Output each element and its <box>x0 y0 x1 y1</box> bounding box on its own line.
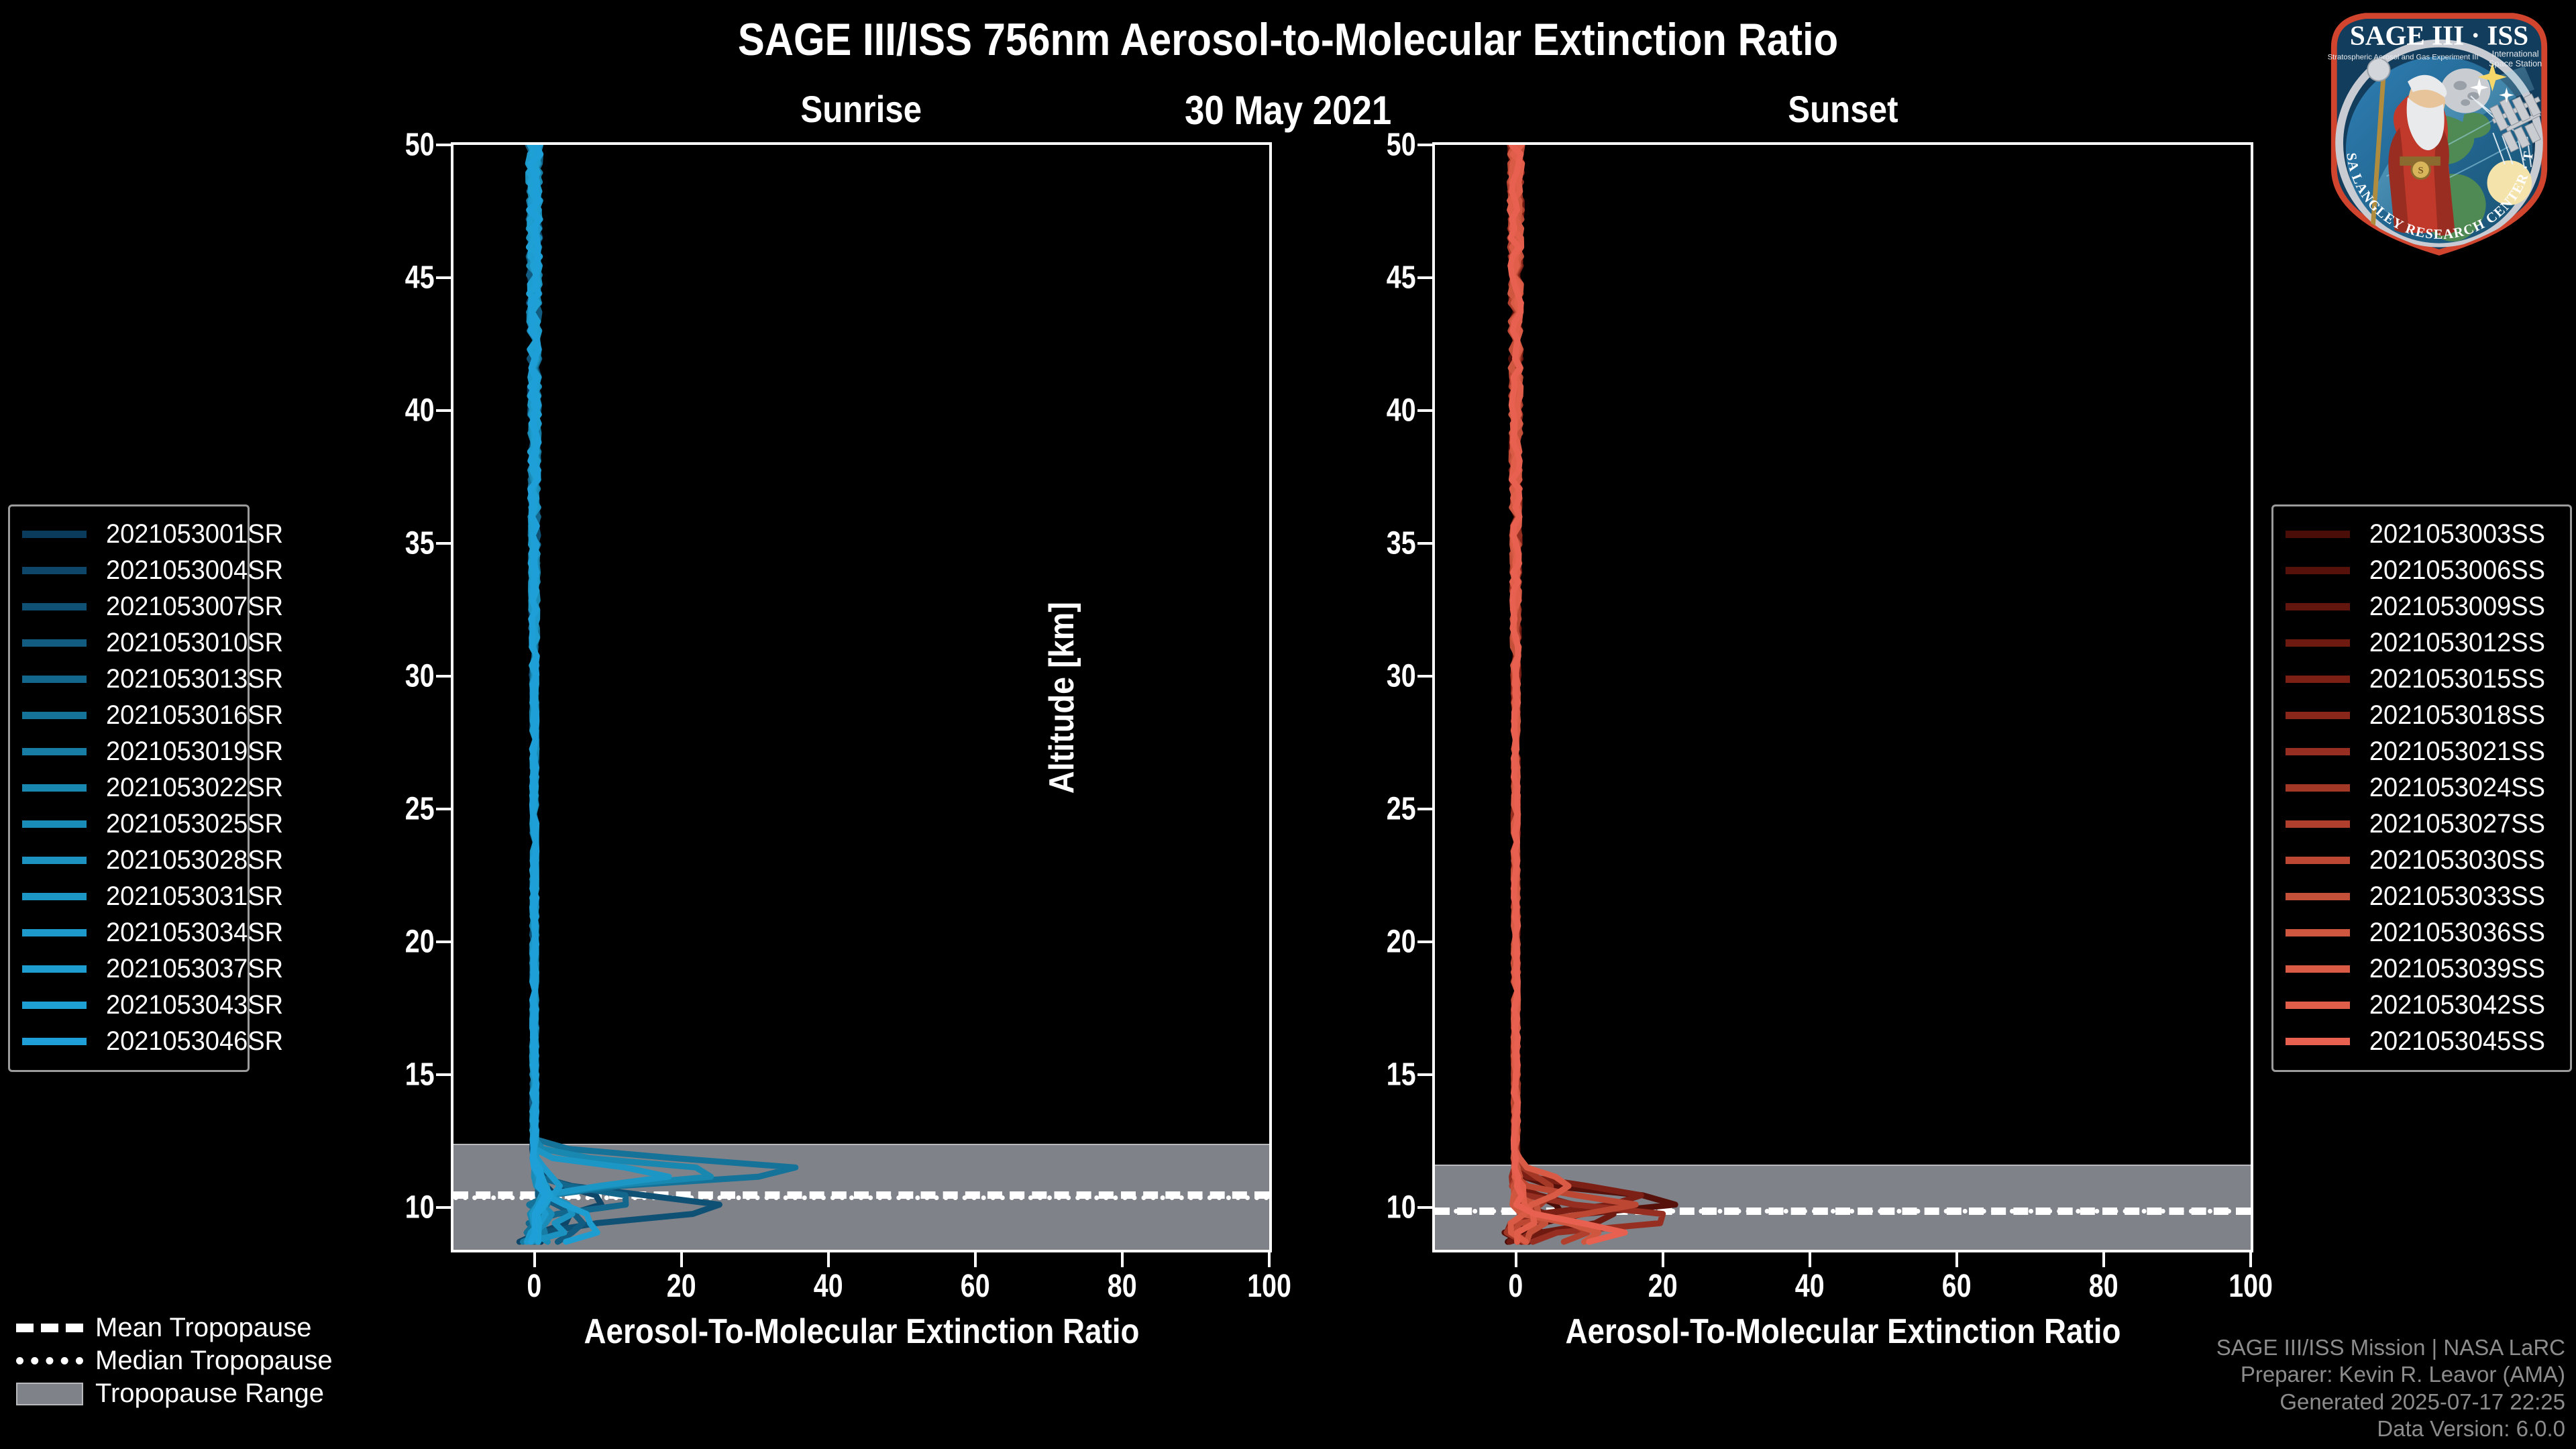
sunrise-y-tick-mark <box>436 276 451 279</box>
sunrise-legend-item[interactable]: 2021053031SR <box>22 878 235 914</box>
sunrise-x-tick-label: 20 <box>614 1268 749 1305</box>
sunrise-y-tick-mark <box>436 1206 451 1209</box>
legend-color-swatch <box>22 820 87 828</box>
sunset-y-tick-mark <box>1417 675 1432 678</box>
sunrise-y-tick-mark <box>436 542 451 545</box>
sunrise-y-tick-label: 50 <box>330 127 437 164</box>
legend-color-swatch <box>2286 531 2350 538</box>
sunset-legend-item[interactable]: 2021053042SS <box>2286 987 2558 1023</box>
sunset-y-tick-mark <box>1417 941 1432 943</box>
profile-line <box>529 145 626 1242</box>
sunrise-legend-item[interactable]: 2021053001SR <box>22 516 235 552</box>
sunset-y-tick-label: 30 <box>1311 657 1419 694</box>
legend-item-label: 2021053007SR <box>101 592 288 622</box>
sunset-x-tick-mark <box>2102 1252 2105 1267</box>
sunrise-plot-area <box>451 142 1272 1252</box>
sunrise-panel-title: Sunrise <box>451 87 1272 131</box>
legend-item-label: 2021053010SR <box>101 628 288 658</box>
credits-block: SAGE III/ISS Mission | NASA LaRCPreparer… <box>2216 1334 2565 1442</box>
sunrise-x-tick-mark <box>827 1252 830 1267</box>
legend-item-label: 2021053021SS <box>2365 737 2550 767</box>
legend-color-swatch <box>2286 676 2350 683</box>
sunset-legend: 2021053003SS2021053006SS2021053009SS2021… <box>2271 504 2572 1072</box>
sunset-legend-item[interactable]: 2021053021SS <box>2286 733 2558 769</box>
legend-color-swatch <box>2286 1038 2350 1045</box>
sunset-y-tick-mark <box>1417 409 1432 412</box>
sunset-x-tick-label: 0 <box>1449 1268 1583 1305</box>
sunrise-legend-item[interactable]: 2021053013SR <box>22 661 235 697</box>
legend-color-swatch <box>22 965 87 973</box>
median-tropopause-dot-swatch <box>12 1357 87 1364</box>
sunrise-y-tick-label: 45 <box>330 259 437 296</box>
sunrise-legend: 2021053001SR2021053004SR2021053007SR2021… <box>8 504 250 1072</box>
sunset-y-tick-mark <box>1417 144 1432 146</box>
sunrise-x-tick-label: 40 <box>761 1268 896 1305</box>
legend-color-swatch <box>22 1002 87 1009</box>
sunrise-x-axis-title-text: Aerosol-To-Molecular Extinction Ratio <box>584 1311 1139 1352</box>
sunset-legend-item[interactable]: 2021053015SS <box>2286 661 2558 697</box>
sunset-legend-item[interactable]: 2021053036SS <box>2286 914 2558 951</box>
logo-subtitle-right-1: International <box>2492 48 2539 58</box>
mean-tropopause-dash-label: Mean Tropopause <box>95 1313 311 1343</box>
legend-item-label: 2021053003SS <box>2365 519 2550 549</box>
legend-item-label: 2021053033SS <box>2365 881 2550 912</box>
legend-item-label: 2021053030SS <box>2365 845 2550 875</box>
sunrise-x-tick-mark <box>680 1252 683 1267</box>
legend-color-swatch <box>22 712 87 719</box>
sunrise-legend-item[interactable]: 2021053034SR <box>22 914 235 951</box>
legend-color-swatch <box>22 857 87 864</box>
legend-color-swatch <box>22 676 87 683</box>
logo-title: SAGE III · ISS <box>2350 20 2528 51</box>
sunrise-y-tick-label: 20 <box>330 923 437 960</box>
sunrise-legend-item[interactable]: 2021053037SR <box>22 951 235 987</box>
legend-item-label: 2021053004SR <box>101 555 288 586</box>
sunset-legend-item[interactable]: 2021053039SS <box>2286 951 2558 987</box>
legend-item-label: 2021053025SR <box>101 809 288 839</box>
page-title-text: SAGE III/ISS 756nm Aerosol-to-Molecular … <box>738 13 1838 66</box>
legend-item-label: 2021053024SS <box>2365 773 2550 803</box>
sunrise-legend-item[interactable]: 2021053004SR <box>22 552 235 588</box>
legend-item-label: 2021053019SR <box>101 737 288 767</box>
legend-item-label: 2021053012SS <box>2365 628 2550 658</box>
legend-item-label: 2021053013SR <box>101 664 288 694</box>
sunrise-x-tick-label: 80 <box>1055 1268 1189 1305</box>
legend-item-label: 2021053028SR <box>101 845 288 875</box>
profile-line <box>1510 145 1663 1242</box>
sunset-legend-item[interactable]: 2021053027SS <box>2286 806 2558 842</box>
sunset-x-tick-label: 100 <box>2184 1268 2318 1305</box>
legend-item-label: 2021053022SR <box>101 773 288 803</box>
sunrise-x-tick-mark <box>1121 1252 1124 1267</box>
legend-item-label: 2021053027SS <box>2365 809 2550 839</box>
legend-item-label: 2021053031SR <box>101 881 288 912</box>
sunset-legend-item[interactable]: 2021053030SS <box>2286 842 2558 878</box>
sunset-x-axis-title: Aerosol-To-Molecular Extinction Ratio <box>1432 1311 2253 1352</box>
sunrise-x-tick-label: 60 <box>908 1268 1042 1305</box>
profile-line <box>1507 145 1641 1242</box>
legend-color-swatch <box>22 567 87 574</box>
sunrise-x-tick-mark <box>1268 1252 1271 1267</box>
logo-subtitle-right-2: Space Station <box>2489 58 2542 68</box>
legend-color-swatch <box>2286 567 2350 574</box>
sunset-y-axis-title-text: Altitude [km] <box>1042 602 1082 794</box>
sunset-y-tick-label: 50 <box>1311 127 1419 164</box>
sunset-legend-item[interactable]: 2021053045SS <box>2286 1023 2558 1059</box>
legend-item-label: 2021053042SS <box>2365 990 2550 1020</box>
sunset-y-tick-label: 15 <box>1311 1056 1419 1093</box>
sunrise-x-tick-label: 0 <box>468 1268 602 1305</box>
legend-color-swatch <box>22 531 87 538</box>
sunset-x-axis-title-text: Aerosol-To-Molecular Extinction Ratio <box>1565 1311 2121 1352</box>
sage-iii-iss-mission-patch-logo: S SAGE III · ISS Stratospheric Aerosol a… <box>2308 4 2571 262</box>
legend-color-swatch <box>22 748 87 755</box>
legend-item-label: 2021053001SR <box>101 519 288 549</box>
sunrise-y-tick-mark <box>436 1073 451 1076</box>
sunrise-y-tick-label: 40 <box>330 392 437 429</box>
median-tropopause-dot-legend-row: Median Tropopause <box>12 1344 428 1377</box>
profile-line <box>1505 145 1675 1242</box>
sunrise-legend-item[interactable]: 2021053025SR <box>22 806 235 842</box>
sunset-y-tick-label: 25 <box>1311 790 1419 827</box>
sunset-y-tick-mark <box>1417 542 1432 545</box>
legend-item-label: 2021053015SS <box>2365 664 2550 694</box>
legend-item-label: 2021053009SS <box>2365 592 2550 622</box>
sunset-plot-area <box>1432 142 2253 1252</box>
sunset-x-tick-mark <box>1955 1252 1958 1267</box>
profile-line <box>1511 145 1636 1242</box>
sunset-profile-curves <box>1435 145 2251 1250</box>
mean-tropopause-dash-glyph <box>16 1324 83 1332</box>
profile-line <box>1511 145 1625 1242</box>
tropopause-legend: Mean TropopauseMedian TropopauseTropopau… <box>12 1311 428 1410</box>
sunset-legend-item[interactable]: 2021053018SS <box>2286 697 2558 733</box>
legend-item-label: 2021053039SS <box>2365 954 2550 984</box>
profile-line <box>1509 145 1613 1242</box>
sunrise-x-axis-title: Aerosol-To-Molecular Extinction Ratio <box>451 1311 1272 1352</box>
mission-patch-svg: S SAGE III · ISS Stratospheric Aerosol a… <box>2308 4 2571 262</box>
tropopause-range-box-glyph <box>16 1383 83 1405</box>
sunrise-y-tick-label: 35 <box>330 525 437 561</box>
sunset-panel-title: Sunset <box>1432 87 2253 131</box>
tropopause-range-box-swatch <box>12 1383 87 1405</box>
sunset-y-tick-label: 45 <box>1311 259 1419 296</box>
legend-item-label: 2021053036SS <box>2365 918 2550 948</box>
tropopause-range-box-label: Tropopause Range <box>95 1379 324 1409</box>
mean-tropopause-dash-legend-row: Mean Tropopause <box>12 1311 428 1344</box>
sunrise-legend-item[interactable]: 2021053022SR <box>22 769 235 806</box>
legend-color-swatch <box>2286 1002 2350 1009</box>
legend-color-swatch <box>2286 929 2350 936</box>
sunrise-profile-curves <box>453 145 1269 1250</box>
sunset-x-tick-label: 60 <box>1890 1268 2024 1305</box>
sunrise-y-tick-mark <box>436 409 451 412</box>
legend-item-label: 2021053006SS <box>2365 555 2550 586</box>
sunrise-legend-item[interactable]: 2021053016SR <box>22 697 235 733</box>
sunrise-x-tick-label: 100 <box>1202 1268 1336 1305</box>
legend-color-swatch <box>22 784 87 792</box>
sunrise-legend-item[interactable]: 2021053010SR <box>22 625 235 661</box>
legend-color-swatch <box>2286 965 2350 973</box>
legend-item-label: 2021053034SR <box>101 918 288 948</box>
sunset-legend-item[interactable]: 2021053003SS <box>2286 516 2558 552</box>
sunrise-y-tick-mark <box>436 808 451 810</box>
sunrise-panel-title-text: Sunrise <box>801 87 922 131</box>
sunrise-y-tick-mark <box>436 941 451 943</box>
page-title: SAGE III/ISS 756nm Aerosol-to-Molecular … <box>0 13 2576 66</box>
legend-color-swatch <box>2286 857 2350 864</box>
sunrise-y-tick-mark <box>436 144 451 146</box>
legend-color-swatch <box>2286 603 2350 610</box>
legend-item-label: 2021053045SS <box>2365 1026 2550 1057</box>
legend-color-swatch <box>22 893 87 900</box>
legend-color-swatch <box>2286 748 2350 755</box>
sunset-y-tick-mark <box>1417 1073 1432 1076</box>
legend-color-swatch <box>2286 820 2350 828</box>
credits-line-2: Preparer: Kevin R. Leavor (AMA) <box>2216 1361 2565 1388</box>
sunset-panel-title-text: Sunset <box>1788 87 1898 131</box>
profile-line <box>529 145 669 1242</box>
legend-color-swatch <box>2286 712 2350 719</box>
profile-line <box>527 145 796 1242</box>
profile-line <box>529 145 719 1242</box>
tropopause-range-box-legend-row: Tropopause Range <box>12 1377 428 1410</box>
legend-item-label: 2021053043SR <box>101 990 288 1020</box>
sunset-y-tick-label: 40 <box>1311 392 1419 429</box>
sunset-x-tick-label: 40 <box>1743 1268 1877 1305</box>
sunset-y-tick-label: 10 <box>1311 1189 1419 1226</box>
sunrise-x-tick-mark <box>974 1252 977 1267</box>
sunrise-legend-item[interactable]: 2021053007SR <box>22 588 235 625</box>
credits-line-3: Generated 2025-07-17 22:25 <box>2216 1389 2565 1415</box>
logo-subtitle-left: Stratospheric Aerosol and Gas Experiment… <box>2328 53 2479 61</box>
legend-item-label: 2021053046SR <box>101 1026 288 1057</box>
legend-item-label: 2021053018SS <box>2365 700 2550 731</box>
legend-color-swatch <box>22 929 87 936</box>
sunset-x-tick-label: 80 <box>2037 1268 2171 1305</box>
credits-line-4: Data Version: 6.0.0 <box>2216 1415 2565 1442</box>
legend-item-label: 2021053037SR <box>101 954 288 984</box>
sunset-x-tick-mark <box>1515 1252 1517 1267</box>
sunset-y-tick-mark <box>1417 808 1432 810</box>
svg-text:S: S <box>2418 166 2423 176</box>
sunset-y-tick-label: 35 <box>1311 525 1419 561</box>
sunrise-y-tick-label: 25 <box>330 790 437 827</box>
sunset-y-tick-mark <box>1417 276 1432 279</box>
sunset-legend-item[interactable]: 2021053024SS <box>2286 769 2558 806</box>
sunset-y-axis-title: Altitude [km] <box>1042 510 1082 885</box>
sunset-legend-item[interactable]: 2021053012SS <box>2286 625 2558 661</box>
sunset-x-tick-label: 20 <box>1596 1268 1730 1305</box>
sunrise-y-tick-mark <box>436 675 451 678</box>
median-tropopause-dot-glyph <box>16 1357 83 1364</box>
mean-tropopause-dash-swatch <box>12 1324 87 1332</box>
sunrise-legend-item[interactable]: 2021053046SR <box>22 1023 235 1059</box>
legend-color-swatch <box>2286 784 2350 792</box>
sunrise-legend-item[interactable]: 2021053043SR <box>22 987 235 1023</box>
legend-item-label: 2021053016SR <box>101 700 288 731</box>
median-tropopause-dot-label: Median Tropopause <box>95 1346 333 1376</box>
sunset-y-tick-label: 20 <box>1311 923 1419 960</box>
sunset-legend-item[interactable]: 2021053033SS <box>2286 878 2558 914</box>
profile-line <box>529 145 710 1242</box>
legend-color-swatch <box>22 639 87 647</box>
sunset-legend-item[interactable]: 2021053009SS <box>2286 588 2558 625</box>
sunrise-legend-item[interactable]: 2021053028SR <box>22 842 235 878</box>
legend-color-swatch <box>22 1038 87 1045</box>
sunset-x-tick-mark <box>2249 1252 2252 1267</box>
sunrise-y-tick-label: 15 <box>330 1056 437 1093</box>
sunrise-legend-item[interactable]: 2021053019SR <box>22 733 235 769</box>
legend-color-swatch <box>2286 893 2350 900</box>
sunrise-y-tick-label: 10 <box>330 1189 437 1226</box>
sunrise-x-tick-mark <box>533 1252 536 1267</box>
legend-color-swatch <box>22 603 87 610</box>
legend-color-swatch <box>2286 639 2350 647</box>
sunset-x-tick-mark <box>1662 1252 1664 1267</box>
sunset-legend-item[interactable]: 2021053006SS <box>2286 552 2558 588</box>
sunset-x-tick-mark <box>1809 1252 1811 1267</box>
sunrise-y-tick-label: 30 <box>330 657 437 694</box>
sunset-y-tick-mark <box>1417 1206 1432 1209</box>
credits-line-1: SAGE III/ISS Mission | NASA LaRC <box>2216 1334 2565 1361</box>
